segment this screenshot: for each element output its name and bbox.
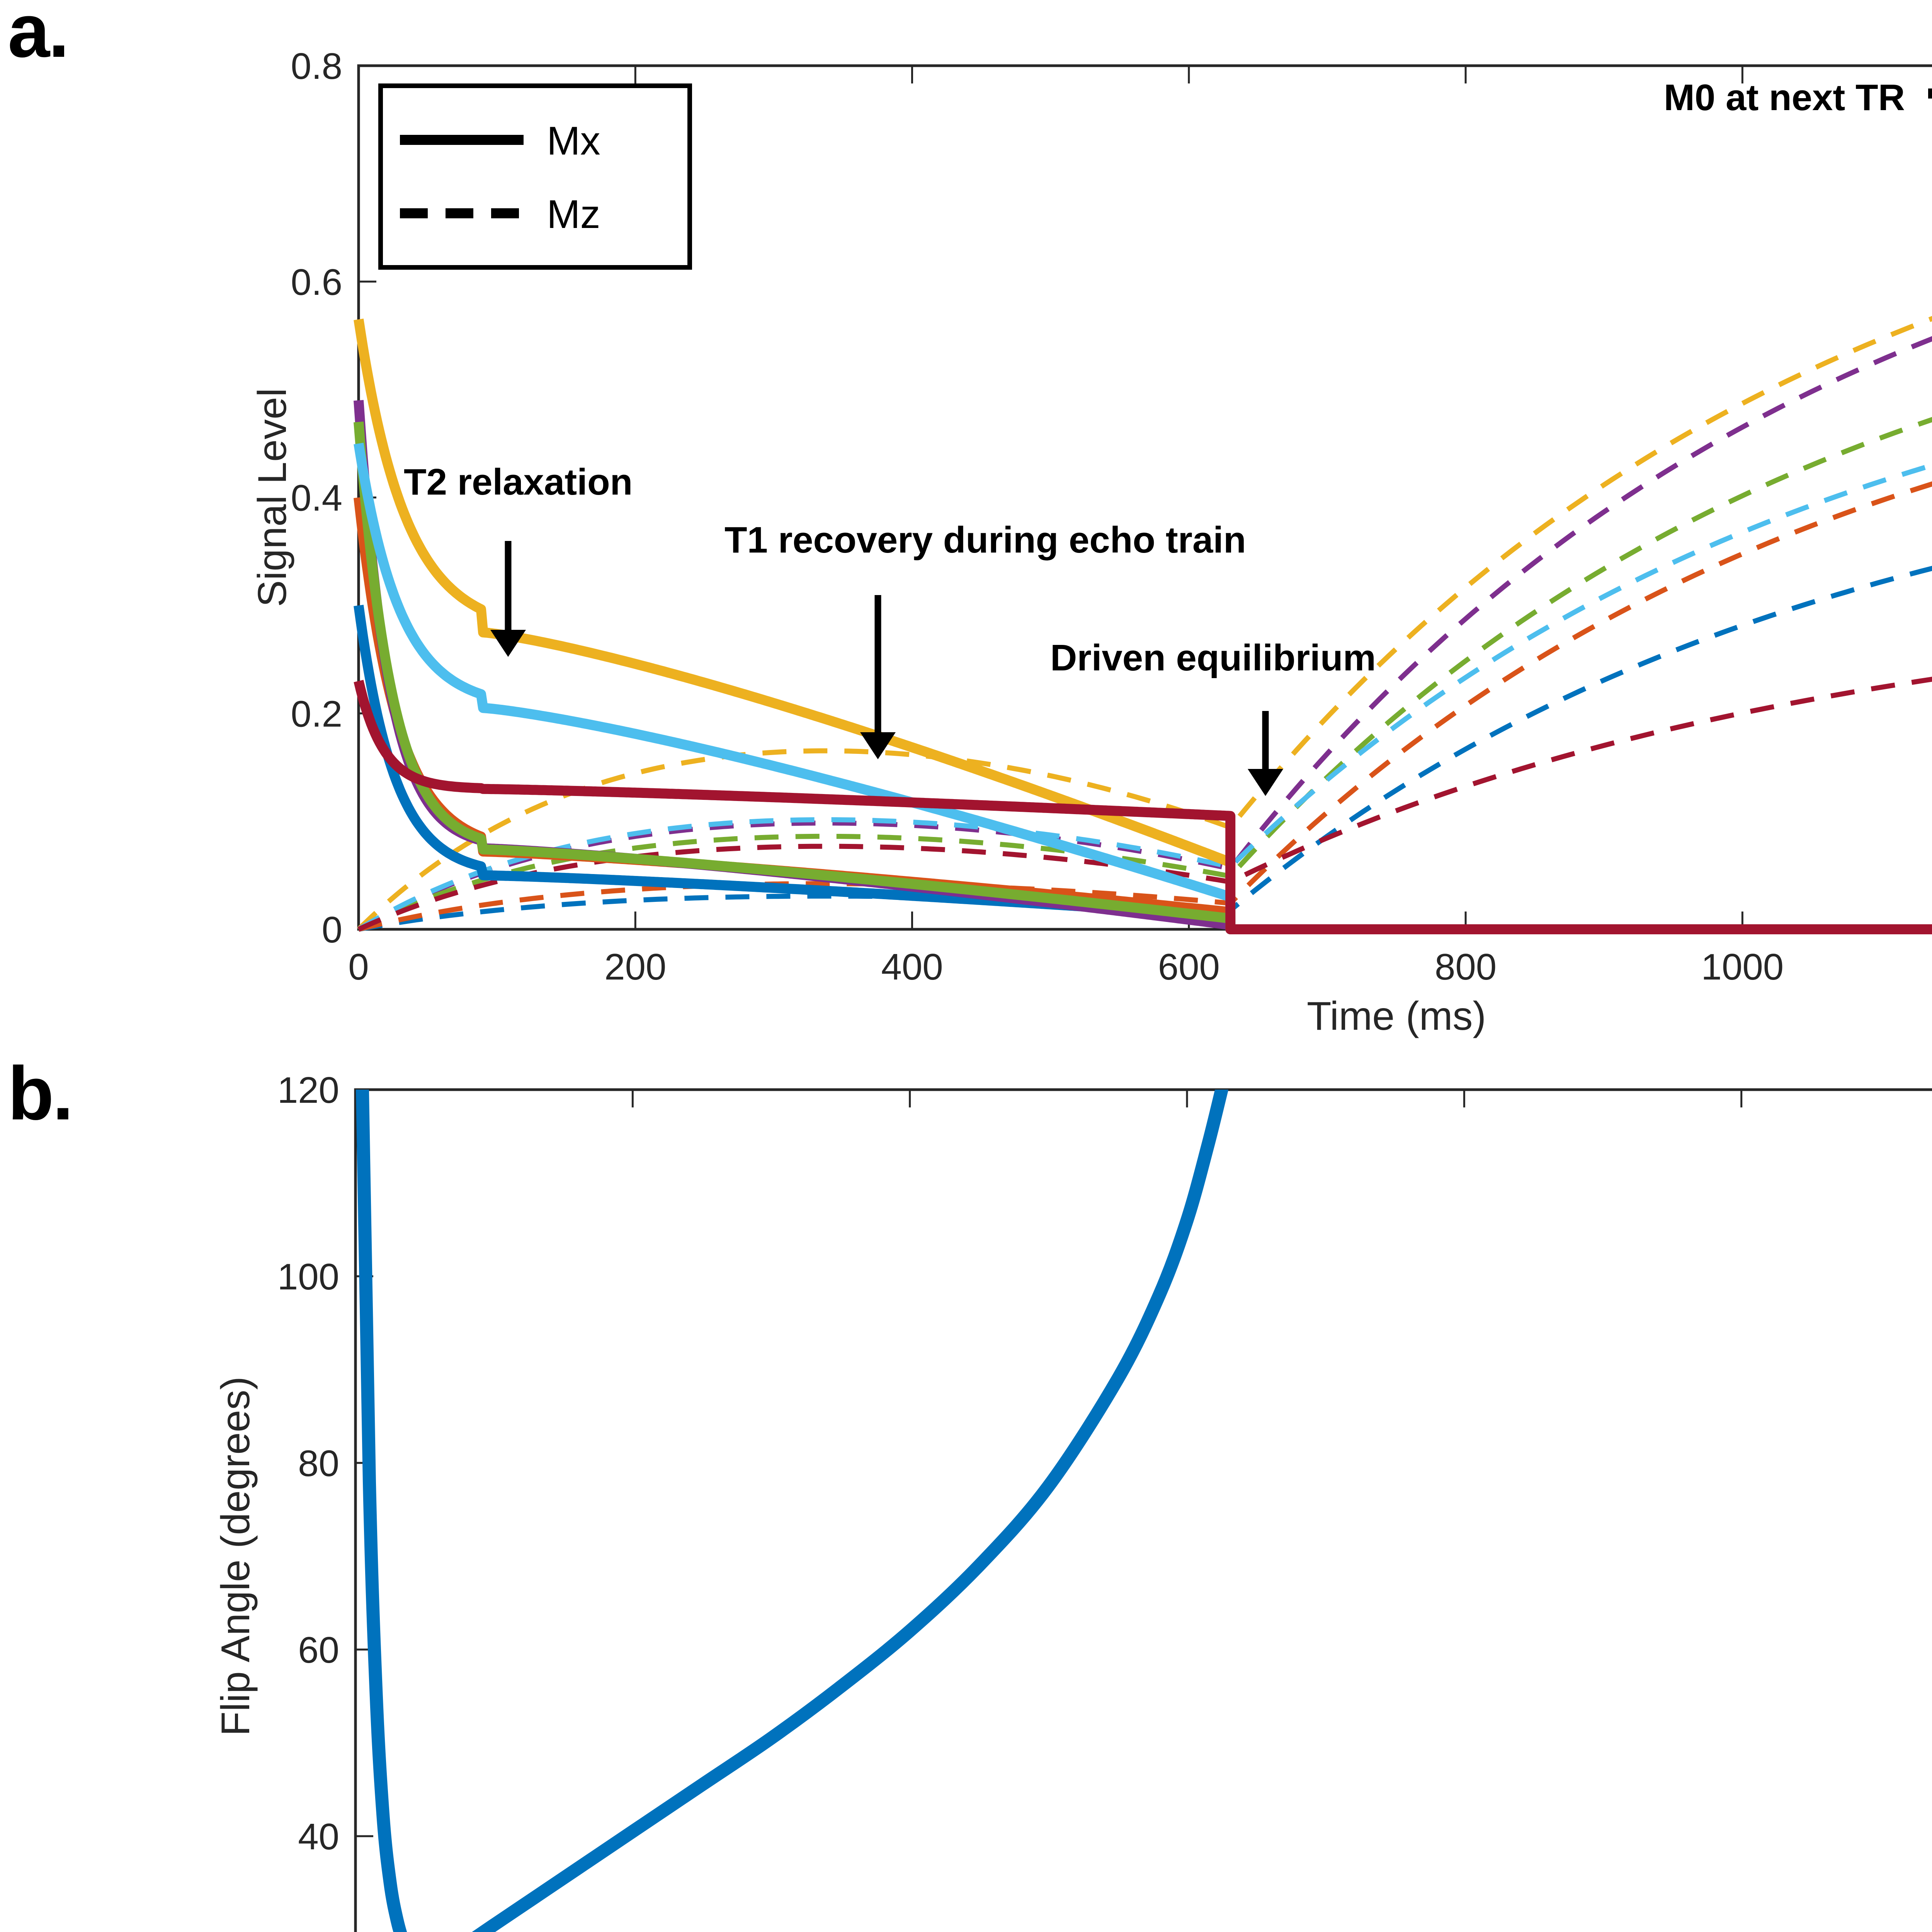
panel-a-xtick-label: 400 (881, 946, 943, 988)
annotation-m0-next-tr: M0 at next TR (1664, 77, 1905, 118)
panel-a-mx-curve (359, 320, 1932, 930)
annotation-t2-relaxation: T2 relaxation (404, 461, 633, 503)
panel-a-xtick-label: 1000 (1701, 946, 1784, 988)
panel-b-flip-angle-curve (355, 577, 1222, 1932)
panel-a-ytick-label: 0 (322, 909, 342, 951)
panel-b-ytick-label: 40 (298, 1816, 339, 1857)
panel-a-xtick-label: 0 (348, 946, 369, 988)
panel-a-legend-box (381, 86, 690, 267)
panel-a-xtick-label: 800 (1435, 946, 1497, 988)
figure-root: a. b. 00.20.40.60.8020040060080010001200… (0, 0, 1932, 1932)
annotation-driven-equilibrium: Driven equilibrium (1050, 637, 1376, 679)
panel-a-ytick-label: 0.4 (291, 478, 342, 519)
panel-a-xaxis-label: Time (ms) (1307, 994, 1486, 1039)
panel-a-ytick-label: 0.6 (291, 262, 342, 303)
panel-a-ytick-label: 0.2 (291, 693, 342, 735)
arrow-t2-relaxation-head (490, 630, 526, 657)
legend-label-mx: Mx (547, 119, 600, 163)
panel-a-xtick-label: 200 (604, 946, 666, 988)
panel-a-mz-curve (359, 304, 1932, 929)
panel-b-yaxis-label: Flip Angle (degrees) (213, 1376, 258, 1736)
panel-a-yaxis-label: Signal Level (250, 388, 295, 607)
arrow-driven-equilibrium-head (1248, 769, 1283, 796)
panel-b-ytick-label: 120 (277, 1070, 339, 1111)
panel-b-ytick-label: 60 (298, 1629, 339, 1671)
legend-label-mz: Mz (547, 192, 600, 237)
panel-a-mz-curve (359, 205, 1932, 929)
panel-b-ytick-label: 80 (298, 1443, 339, 1484)
panel-a-mx-curve (359, 681, 1932, 929)
panel-b-axis-box (355, 1090, 1932, 1932)
panel-a-xtick-label: 600 (1158, 946, 1220, 988)
panel-a-ytick-label: 0.8 (291, 46, 342, 87)
panel-b-label: b. (8, 1056, 72, 1131)
panel-a-label: a. (8, 0, 68, 69)
panel-b-ytick-label: 100 (277, 1256, 339, 1298)
panel-b-plot: 204060801001200200400600800100012001400T… (213, 577, 1932, 1932)
figure-svg: 00.20.40.60.80200400600800100012001400Ti… (0, 0, 1932, 1932)
panel-a-plot: 00.20.40.60.80200400600800100012001400Ti… (250, 46, 1932, 1039)
annotation-t1-recovery: T1 recovery during echo train (724, 519, 1246, 561)
